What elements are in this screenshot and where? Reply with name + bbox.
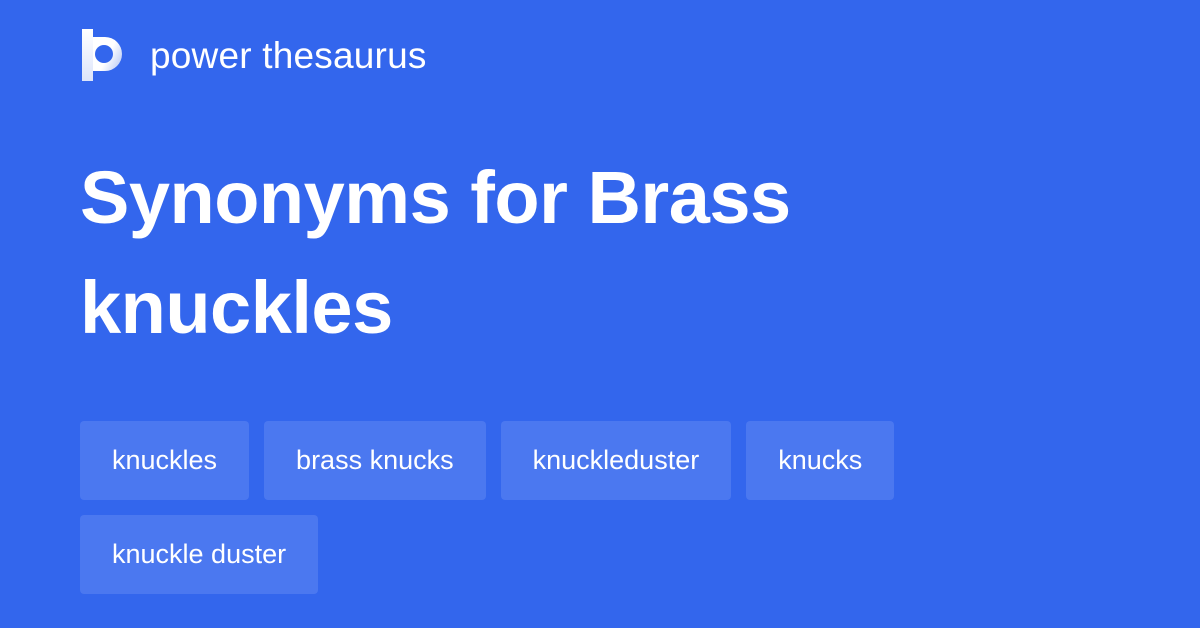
page-title: Synonyms for Brass knuckles: [80, 143, 980, 363]
synonym-chip-list: knuckles brass knucks knuckleduster knuc…: [80, 421, 1120, 594]
power-thesaurus-b-logo-icon: [80, 29, 128, 81]
brand-logo[interactable]: power thesaurus: [80, 25, 427, 85]
synonym-chip[interactable]: knuckle duster: [80, 515, 318, 594]
social-card: power thesaurus Synonyms for Brass knuck…: [0, 0, 1200, 628]
synonym-chip[interactable]: knuckles: [80, 421, 249, 500]
synonym-chip[interactable]: knuckleduster: [501, 421, 732, 500]
synonym-chip[interactable]: knucks: [746, 421, 894, 500]
brand-name: power thesaurus: [150, 37, 427, 74]
synonym-chip[interactable]: brass knucks: [264, 421, 486, 500]
